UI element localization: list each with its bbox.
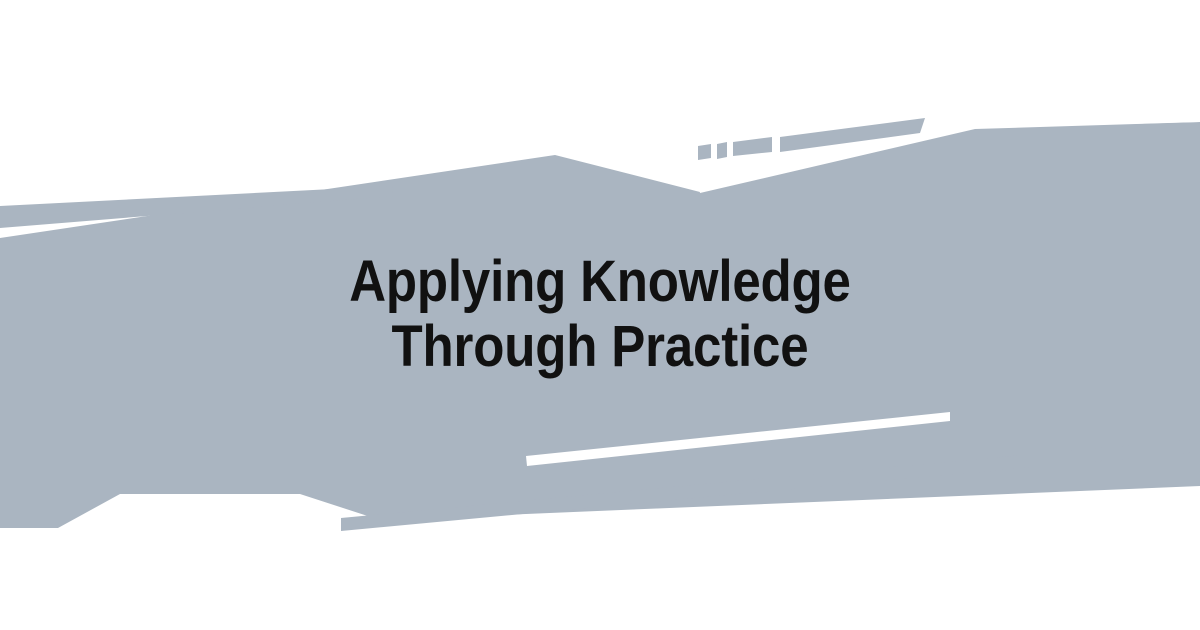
decorative-geometric-artwork [0, 0, 1200, 630]
banner-canvas: Applying Knowledge Through Practice [0, 0, 1200, 630]
dash-mark-2-icon [717, 142, 727, 159]
dash-mark-1-icon [698, 144, 711, 160]
